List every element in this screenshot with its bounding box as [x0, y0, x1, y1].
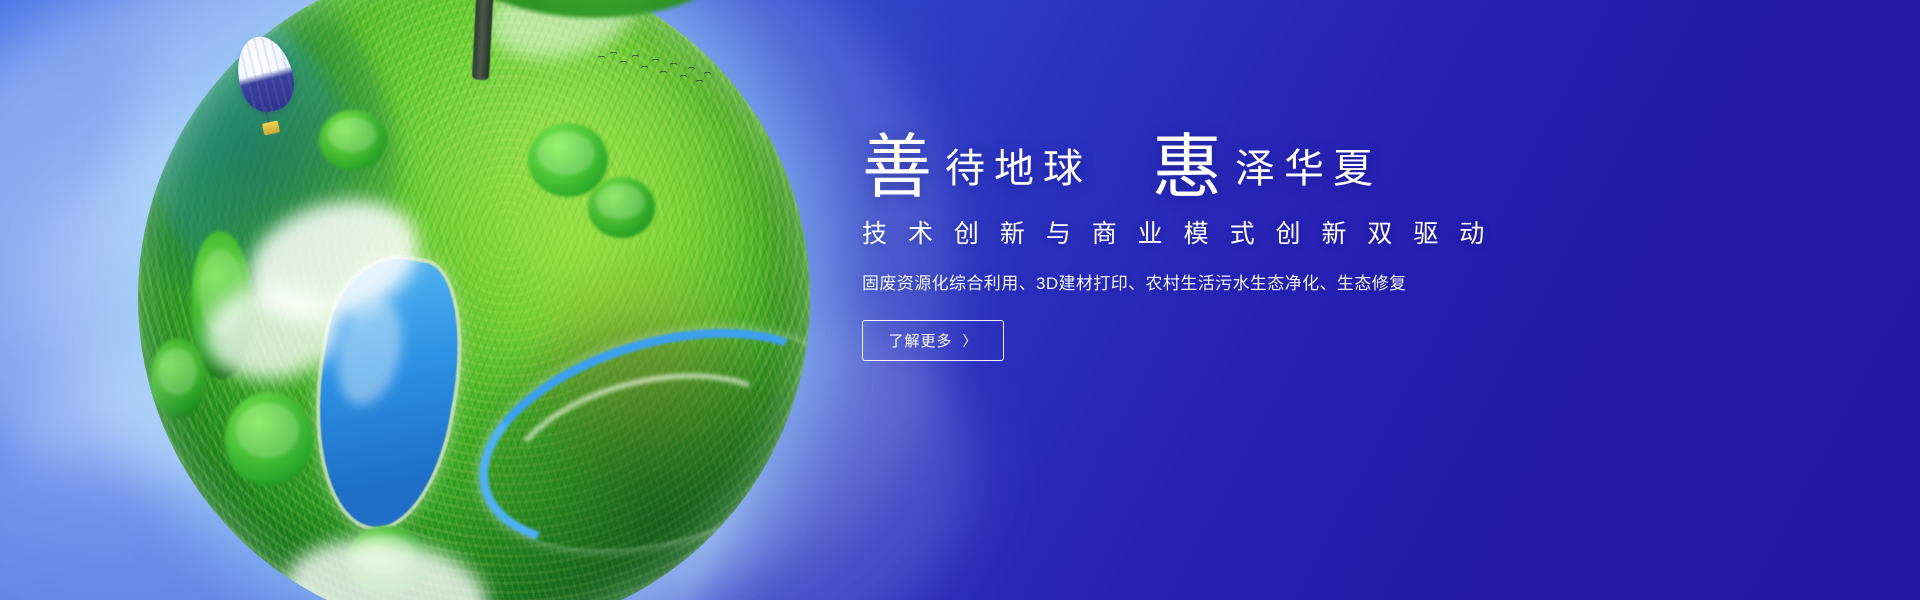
bird-icon [620, 61, 627, 65]
chevron-right-icon: 〉 [963, 334, 978, 348]
headline-char-shan: 善 [862, 132, 933, 202]
hero-banner: 善 待地球 惠 泽华夏 技 术 创 新 与 商 业 模 式 创 新 双 驱 动 … [0, 0, 1920, 600]
balloon-stripes [230, 31, 301, 118]
learn-more-label: 了解更多 [888, 330, 952, 351]
tree-icon [588, 177, 655, 237]
subheadline: 技 术 创 新 与 商 业 模 式 创 新 双 驱 动 [862, 214, 1662, 250]
page-title: 善 待地球 惠 泽华夏 [862, 128, 1662, 198]
bird-flock-icon [596, 50, 716, 92]
bird-icon [610, 52, 617, 56]
bird-icon [688, 67, 695, 71]
tree-icon [151, 338, 205, 419]
learn-more-button[interactable]: 了解更多 〉 [862, 320, 1004, 361]
tree-icon [225, 392, 312, 486]
bird-icon [652, 59, 659, 63]
headline-text-zehuaxia: 泽华夏 [1223, 149, 1386, 198]
bird-icon [641, 66, 648, 70]
bird-icon [670, 63, 677, 67]
tree-icon [319, 110, 386, 170]
bird-icon [598, 56, 605, 60]
hero-content: 善 待地球 惠 泽华夏 技 术 创 新 与 商 业 模 式 创 新 双 驱 动 … [862, 128, 1662, 361]
bird-icon [660, 71, 667, 75]
headline-char-hui: 惠 [1152, 132, 1223, 202]
bird-icon [696, 80, 703, 84]
tree-trunk [472, 0, 495, 80]
bird-icon [632, 55, 639, 59]
hot-air-balloon-icon [232, 36, 298, 148]
bird-icon [680, 75, 687, 79]
description-text: 固废资源化综合利用、3D建材打印、农村生活污水生态净化、生态修复 [862, 269, 1662, 294]
bird-icon [704, 72, 711, 76]
balloon-basket [262, 120, 280, 135]
headline-text-daidiqiu: 待地球 [933, 149, 1096, 198]
